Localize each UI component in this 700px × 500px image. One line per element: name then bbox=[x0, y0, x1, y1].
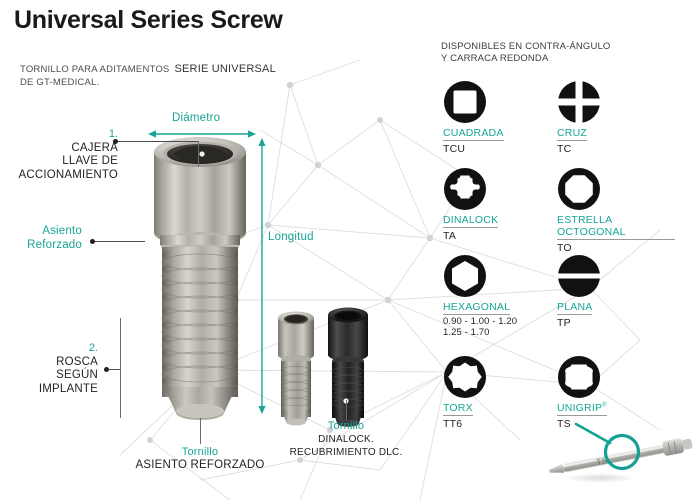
callout-rosca-number: 2. bbox=[89, 342, 98, 354]
driver-item-unigrip[interactable]: UNIGRIP® TS bbox=[557, 355, 677, 430]
caption-dinalock-line3: RECUBRIMIENTO DLC. bbox=[281, 446, 411, 459]
callout-rosca-line2: SEGÚN bbox=[0, 369, 98, 383]
torx-drive-icon bbox=[443, 355, 487, 399]
caption-dinalock-line2: DINALOCK. bbox=[281, 433, 411, 446]
callout-asiento-line2: Reforzado bbox=[0, 239, 82, 253]
driver-code-plana: TP bbox=[557, 317, 677, 329]
dinalock-caption-leader bbox=[346, 400, 347, 420]
unigrip-drive-icon bbox=[557, 355, 601, 399]
driver-item-cuadrada[interactable]: CUADRADA TCU bbox=[443, 80, 563, 155]
caption-main-screw-line2: ASIENTO REFORZADO bbox=[110, 459, 290, 472]
callout-rosca: 2. ROSCA SEGÚN IMPLANTE bbox=[0, 340, 98, 396]
driver-name-torx: TORX bbox=[443, 402, 473, 416]
main-screw-caption-leader bbox=[200, 418, 201, 444]
driver-code-estrella-octogonal: TO bbox=[557, 242, 677, 254]
driver-item-plana[interactable]: PLANA TP bbox=[557, 254, 677, 329]
callout-rosca-bracket bbox=[120, 318, 121, 418]
driver-code-cuadrada: TCU bbox=[443, 143, 563, 155]
dinalock-drive-icon bbox=[443, 167, 487, 211]
driver-dims-hexagonal: 0.90 - 1.00 - 1.20 1.25 - 1.70 bbox=[443, 316, 563, 338]
cross-drive-icon bbox=[557, 80, 601, 124]
driver-item-hexagonal[interactable]: HEXAGONAL 0.90 - 1.00 - 1.20 1.25 - 1.70 bbox=[443, 254, 563, 338]
dinalock-screw-illustration bbox=[322, 303, 374, 433]
diameter-arrow bbox=[148, 128, 256, 140]
caption-main-screw: Tornillo ASIENTO REFORZADO bbox=[110, 446, 290, 472]
drivers-panel-heading: DISPONIBLES EN CONTRA-ÁNGULO Y CARRACA R… bbox=[441, 41, 610, 64]
callout-asiento-leader bbox=[95, 241, 145, 242]
driver-name-cruz: CRUZ bbox=[557, 127, 587, 141]
drivers-heading-line2: Y CARRACA REDONDA bbox=[441, 53, 610, 65]
driver-item-torx[interactable]: TORX TT6 bbox=[443, 355, 563, 430]
driver-name-unigrip-text: UNIGRIP bbox=[557, 402, 602, 414]
callout-asiento-line1: Asiento bbox=[0, 225, 82, 239]
callout-cajera-leader bbox=[118, 141, 198, 142]
callout-cajera-number: 1. bbox=[109, 128, 118, 140]
unigrip-tool-illustration: TS bbox=[548, 420, 700, 492]
hexagon-drive-icon bbox=[443, 254, 487, 298]
intro-series-name: SERIE UNIVERSAL bbox=[174, 63, 275, 75]
driver-trademark-unigrip: ® bbox=[602, 403, 607, 409]
callout-rosca-line3: IMPLANTE bbox=[0, 383, 98, 397]
driver-name-estrella-octogonal: ESTRELLA OCTOGONAL bbox=[557, 214, 675, 240]
driver-name-plana: PLANA bbox=[557, 301, 592, 315]
page-title: Universal Series Screw bbox=[14, 6, 283, 35]
flat-drive-icon bbox=[557, 254, 601, 298]
length-label: Longitud bbox=[268, 231, 314, 243]
octagon-drive-icon bbox=[557, 167, 601, 211]
driver-name-unigrip: UNIGRIP® bbox=[557, 402, 607, 416]
caption-main-screw-line1: Tornillo bbox=[110, 446, 290, 459]
callout-rosca-line1: ROSCA bbox=[0, 356, 98, 370]
driver-name-dinalock: DINALOCK bbox=[443, 214, 498, 228]
driver-item-cruz[interactable]: CRUZ TC bbox=[557, 80, 677, 155]
intro-caption: TORNILLO PARA ADITAMENTOSSERIE UNIVERSAL… bbox=[20, 63, 276, 89]
callout-asiento: Asiento Reforzado bbox=[0, 225, 82, 252]
length-arrow bbox=[256, 138, 268, 414]
driver-item-estrella-octogonal[interactable]: ESTRELLA OCTOGONAL TO bbox=[557, 167, 677, 254]
driver-name-hexagonal: HEXAGONAL bbox=[443, 301, 510, 315]
intro-line2: DE GT-MEDICAL. bbox=[20, 76, 276, 89]
driver-code-dinalock: TA bbox=[443, 230, 563, 242]
callout-cajera-line1: CAJERA bbox=[0, 142, 118, 156]
caption-dinalock-screw: Tornillo DINALOCK. RECUBRIMIENTO DLC. bbox=[281, 420, 411, 459]
universal-screw-small-illustration bbox=[272, 308, 320, 433]
poster-canvas: Universal Series Screw TORNILLO PARA ADI… bbox=[0, 0, 700, 500]
driver-name-cuadrada: CUADRADA bbox=[443, 127, 504, 141]
intro-line1: TORNILLO PARA ADITAMENTOS bbox=[20, 64, 169, 75]
callout-cajera-line3: ACCIONAMIENTO bbox=[0, 169, 118, 183]
driver-code-torx: TT6 bbox=[443, 418, 563, 430]
callout-cajera-leader-drop bbox=[198, 141, 199, 167]
driver-item-dinalock[interactable]: DINALOCK TA bbox=[443, 167, 563, 242]
callout-cajera: 1. CAJERA LLAVE DE ACCIONAMIENTO bbox=[0, 126, 118, 182]
diameter-label: Diámetro bbox=[172, 112, 220, 124]
main-screw-illustration bbox=[140, 135, 260, 435]
drivers-heading-line1: DISPONIBLES EN CONTRA-ÁNGULO bbox=[441, 41, 610, 53]
callout-cajera-line2: LLAVE DE bbox=[0, 155, 118, 169]
driver-code-cruz: TC bbox=[557, 143, 677, 155]
square-drive-icon bbox=[443, 80, 487, 124]
caption-dinalock-line1: Tornillo bbox=[281, 420, 411, 433]
